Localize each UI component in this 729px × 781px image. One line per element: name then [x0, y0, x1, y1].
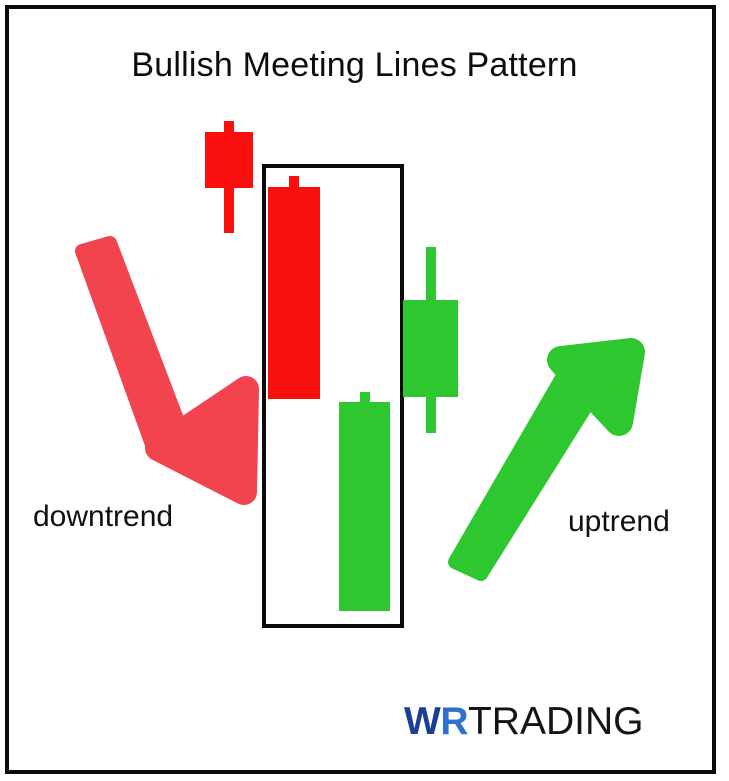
logo-letter-r: R — [440, 700, 468, 743]
candle-long-bullish — [339, 392, 390, 611]
page-title: Bullish Meeting Lines Pattern — [0, 46, 709, 85]
downtrend-label: downtrend — [33, 500, 173, 534]
candle-body — [205, 132, 253, 188]
uptrend-label: uptrend — [568, 505, 670, 539]
pattern-illustration-canvas: Bullish Meeting Lines Pattern downtrend — [0, 0, 729, 781]
downtrend-arrow-icon — [60, 235, 270, 505]
candle-body — [339, 402, 390, 611]
candle-long-bearish — [268, 176, 320, 399]
candle-prior-bearish — [205, 121, 253, 233]
candle-body — [268, 187, 320, 399]
logo-letter-w: W — [404, 700, 440, 743]
brand-logo: WRTRADING — [404, 700, 643, 744]
logo-wordmark: TRADING — [468, 700, 644, 743]
